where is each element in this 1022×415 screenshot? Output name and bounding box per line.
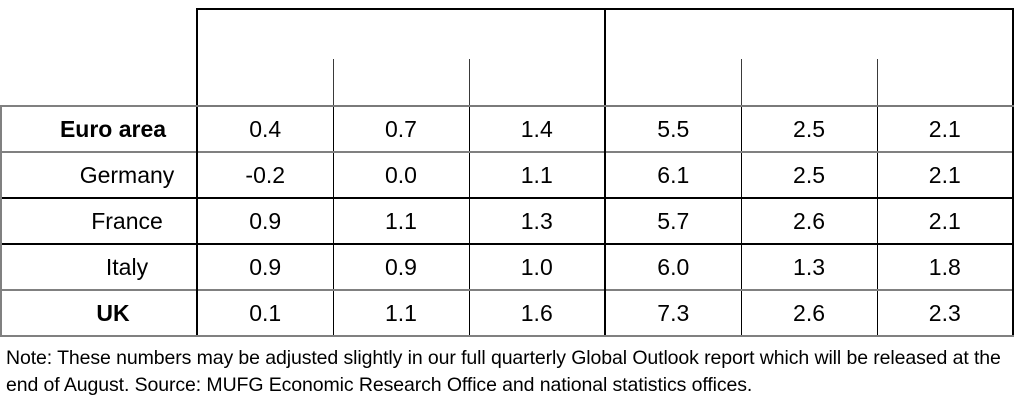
year-header-row: 2023 2024F 2025F 2023 2024F 2025F bbox=[1, 59, 1013, 107]
column-header-cpi-2025f: 2025F bbox=[877, 59, 1013, 107]
column-header-gdp-2025f: 2025F bbox=[469, 59, 605, 107]
cell-euro-area-cpi-2023: 5.5 bbox=[605, 106, 741, 152]
cell-euro-area-gdp-2024f: 0.7 bbox=[333, 106, 469, 152]
cell-uk-cpi-2025f: 2.3 bbox=[877, 290, 1013, 336]
row-label-uk: UK bbox=[1, 290, 197, 336]
table-header: Real GDP (% Y/Y) Consumer Prices (% Y/Y)… bbox=[1, 9, 1013, 106]
cell-uk-gdp-2023: 0.1 bbox=[197, 290, 333, 336]
cell-france-gdp-2025f: 1.3 bbox=[469, 198, 605, 244]
column-header-cpi-2023: 2023 bbox=[605, 59, 741, 107]
table-row: UK 0.1 1.1 1.6 7.3 2.6 2.3 bbox=[1, 290, 1013, 336]
cell-germany-cpi-2024f: 2.5 bbox=[741, 152, 877, 198]
cell-euro-area-cpi-2025f: 2.1 bbox=[877, 106, 1013, 152]
group-header-real-gdp: Real GDP (% Y/Y) bbox=[197, 9, 605, 59]
cell-italy-cpi-2023: 6.0 bbox=[605, 244, 741, 290]
cell-uk-cpi-2023: 7.3 bbox=[605, 290, 741, 336]
cell-euro-area-gdp-2023: 0.4 bbox=[197, 106, 333, 152]
table-row: Euro area 0.4 0.7 1.4 5.5 2.5 2.1 bbox=[1, 106, 1013, 152]
cell-germany-cpi-2025f: 2.1 bbox=[877, 152, 1013, 198]
column-header-gdp-2023: 2023 bbox=[197, 59, 333, 107]
cell-germany-gdp-2024f: 0.0 bbox=[333, 152, 469, 198]
cell-italy-cpi-2025f: 1.8 bbox=[877, 244, 1013, 290]
row-label-germany: Germany bbox=[1, 152, 197, 198]
table-row: Italy 0.9 0.9 1.0 6.0 1.3 1.8 bbox=[1, 244, 1013, 290]
cell-italy-cpi-2024f: 1.3 bbox=[741, 244, 877, 290]
cell-france-gdp-2024f: 1.1 bbox=[333, 198, 469, 244]
cell-uk-gdp-2024f: 1.1 bbox=[333, 290, 469, 336]
group-header-row: Real GDP (% Y/Y) Consumer Prices (% Y/Y) bbox=[1, 9, 1013, 59]
group-header-consumer-prices: Consumer Prices (% Y/Y) bbox=[605, 9, 1013, 59]
column-header-cpi-2024f: 2024F bbox=[741, 59, 877, 107]
corner-cell bbox=[1, 9, 197, 59]
row-label-italy: Italy bbox=[1, 244, 197, 290]
row-label-euro-area: Euro area bbox=[1, 106, 197, 152]
cell-france-cpi-2024f: 2.6 bbox=[741, 198, 877, 244]
cell-euro-area-gdp-2025f: 1.4 bbox=[469, 106, 605, 152]
cell-uk-gdp-2025f: 1.6 bbox=[469, 290, 605, 336]
cell-germany-cpi-2023: 6.1 bbox=[605, 152, 741, 198]
cell-italy-gdp-2024f: 0.9 bbox=[333, 244, 469, 290]
cell-euro-area-cpi-2024f: 2.5 bbox=[741, 106, 877, 152]
cell-italy-gdp-2025f: 1.0 bbox=[469, 244, 605, 290]
table-row: Germany -0.2 0.0 1.1 6.1 2.5 2.1 bbox=[1, 152, 1013, 198]
cell-italy-gdp-2023: 0.9 bbox=[197, 244, 333, 290]
table-row: France 0.9 1.1 1.3 5.7 2.6 2.1 bbox=[1, 198, 1013, 244]
economic-forecast-table: Real GDP (% Y/Y) Consumer Prices (% Y/Y)… bbox=[0, 8, 1014, 337]
table-body: Euro area 0.4 0.7 1.4 5.5 2.5 2.1 German… bbox=[1, 106, 1013, 336]
forecast-table-figure: Real GDP (% Y/Y) Consumer Prices (% Y/Y)… bbox=[0, 0, 1022, 415]
cell-france-cpi-2023: 5.7 bbox=[605, 198, 741, 244]
row-label-france: France bbox=[1, 198, 197, 244]
cell-germany-gdp-2023: -0.2 bbox=[197, 152, 333, 198]
cell-france-gdp-2023: 0.9 bbox=[197, 198, 333, 244]
cell-germany-gdp-2025f: 1.1 bbox=[469, 152, 605, 198]
column-header-gdp-2024f: 2024F bbox=[333, 59, 469, 107]
cell-uk-cpi-2024f: 2.6 bbox=[741, 290, 877, 336]
corner-cell-lower bbox=[1, 59, 197, 107]
table-footnote: Note: These numbers may be adjusted slig… bbox=[6, 345, 1018, 399]
cell-france-cpi-2025f: 2.1 bbox=[877, 198, 1013, 244]
